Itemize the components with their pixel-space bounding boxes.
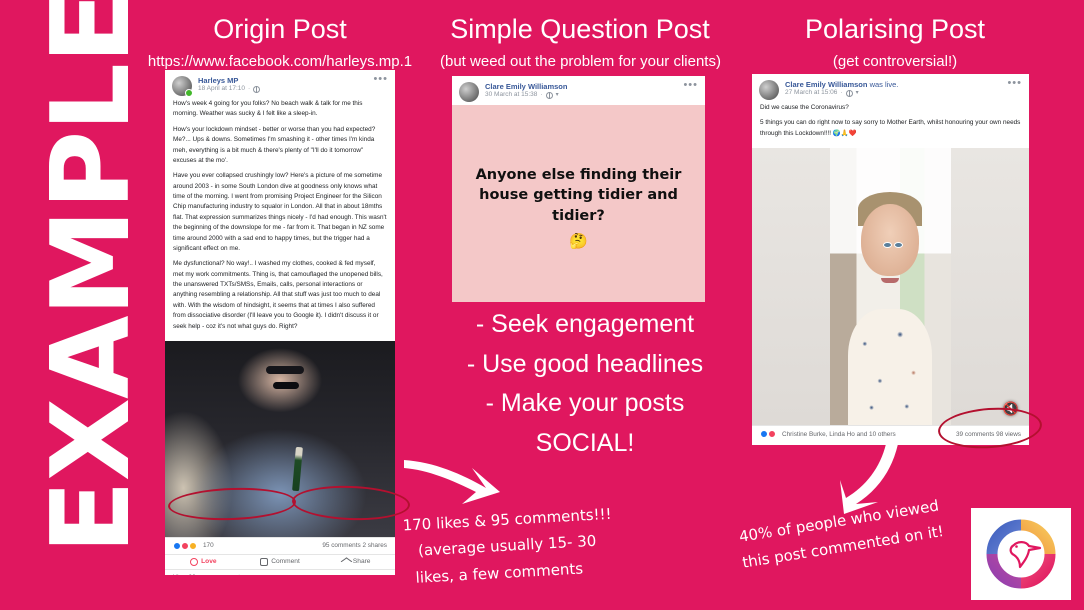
ellipsis-icon[interactable]: ••• [683,82,698,89]
mouth-shape [881,278,899,283]
post-paragraph: Me dysfunctional? No way!.. I washed my … [173,259,387,332]
avatar[interactable] [172,76,192,96]
ellipsis-icon[interactable]: ••• [1007,80,1022,87]
live-suffix-label: was live. [870,80,899,89]
reaction-icons[interactable]: 170 [173,542,214,550]
post-meta: 30 March at 15:38 · ▾ [485,91,567,99]
love-button[interactable]: Love [165,558,242,566]
post-paragraph: How's your lockdown mindset - better or … [173,125,387,167]
tip-item: - Seek engagement [420,305,750,345]
post-paragraph: Have you ever collapsed crushingly low? … [173,171,387,254]
logo-svg [984,517,1058,591]
love-button-label: Love [201,558,216,565]
video-frame [830,148,952,425]
love-icon [190,558,198,566]
avatar[interactable] [459,82,479,102]
post-timestamp: 27 March at 15:06 [785,89,837,97]
post-meta: 27 March at 15:06 · ▾ [785,89,898,97]
reaction-icons[interactable]: Christine Burke, Linda Ho and 10 others [760,430,896,438]
comments-section: View 32 more comments Leanne Williams OM… [165,569,395,575]
comment-button-label: Comment [271,558,300,565]
post-author-label: Clare Emily Williamson [785,80,867,89]
globe-icon [546,92,553,99]
column-subtitle-origin-post: https://www.facebook.com/harleys.mp.1 [130,53,430,70]
like-icon [173,542,181,550]
post-paragraph: 5 things you can do right now to say sor… [760,118,1021,139]
hummingbird-icon [1011,542,1040,567]
post-timestamp: 30 March at 15:38 [485,91,537,99]
reaction-names[interactable]: Christine Burke, Linda Ho and 10 others [782,431,896,438]
haha-icon [189,542,197,550]
globe-icon [846,90,853,97]
tip-item: - Make your posts [420,384,750,424]
share-button[interactable]: Share [318,558,395,566]
post-header: Clare Emily Williamson was live. 27 Marc… [752,74,1029,103]
love-icon [181,542,189,550]
face-shape [861,204,919,276]
post-timestamp: 18 April at 17:10 [198,85,245,93]
annotation-left-note: 170 likes & 95 comments!!! (average usua… [402,500,636,591]
reaction-count: 170 [203,542,214,549]
globe-icon [253,86,260,93]
post-header: Harleys MP 18 April at 17:10 · ••• [165,70,395,99]
tips-list: - Seek engagement - Use good headlines -… [420,305,750,463]
column-subtitle-polarising-post: (get controversial!) [770,53,1020,70]
column-subtitle-simple-question-post: (but weed out the problem for your clien… [418,53,743,70]
post-text: Did we cause the Coronavirus? 5 things y… [752,103,1029,148]
post-header: Clare Emily Williamson 30 March at 15:38… [452,76,705,105]
hummingbird-circle-logo [971,508,1071,600]
chevron-down-icon[interactable]: ▾ [556,92,559,100]
share-icon [341,558,353,566]
like-icon [760,430,768,438]
post-photo-text-card[interactable]: Anyone else finding their house getting … [452,105,705,302]
post-author-name[interactable]: Clare Emily Williamson was live. [785,80,898,89]
post-paragraph: Did we cause the Coronavirus? [760,103,1021,113]
bottle-shape [292,446,303,490]
facebook-post-simple-question[interactable]: Clare Emily Williamson 30 March at 15:38… [452,76,705,302]
avatar[interactable] [759,80,779,100]
post-author-name[interactable]: Harleys MP [198,76,260,85]
post-video[interactable]: 🔇 [752,148,1029,425]
view-more-comments-link[interactable]: View 32 more comments [173,574,387,575]
love-icon [768,430,776,438]
post-action-bar[interactable]: Love Comment Share [165,554,395,569]
post-text: How's week 4 going for you folks? No bea… [165,99,395,341]
comments-shares-count[interactable]: 95 comments 2 shares [322,542,387,549]
share-button-label: Share [353,558,371,565]
side-banner-examples: EXAMPLES [38,0,146,554]
column-title-polarising-post: Polarising Post [770,14,1020,45]
column-title-origin-post: Origin Post [180,14,380,45]
ellipsis-icon[interactable]: ••• [373,76,388,83]
facebook-post-polarising[interactable]: Clare Emily Williamson was live. 27 Marc… [752,74,1029,445]
thinking-face-icon: 🤔 [569,232,588,250]
post-author-name[interactable]: Clare Emily Williamson [485,82,567,91]
shirt-shape [848,309,932,425]
comment-button[interactable]: Comment [242,558,319,566]
chevron-down-icon[interactable]: ▾ [856,90,859,98]
post-meta: 18 April at 17:10 · [198,85,260,93]
post-stats-bar: 170 95 comments 2 shares [165,537,395,554]
comment-icon [260,558,268,566]
question-text: Anyone else finding their house getting … [466,165,691,227]
column-title-simple-question-post: Simple Question Post [435,14,725,45]
tip-item: - Use good headlines [420,345,750,385]
post-paragraph: How's week 4 going for you folks? No bea… [173,99,387,120]
